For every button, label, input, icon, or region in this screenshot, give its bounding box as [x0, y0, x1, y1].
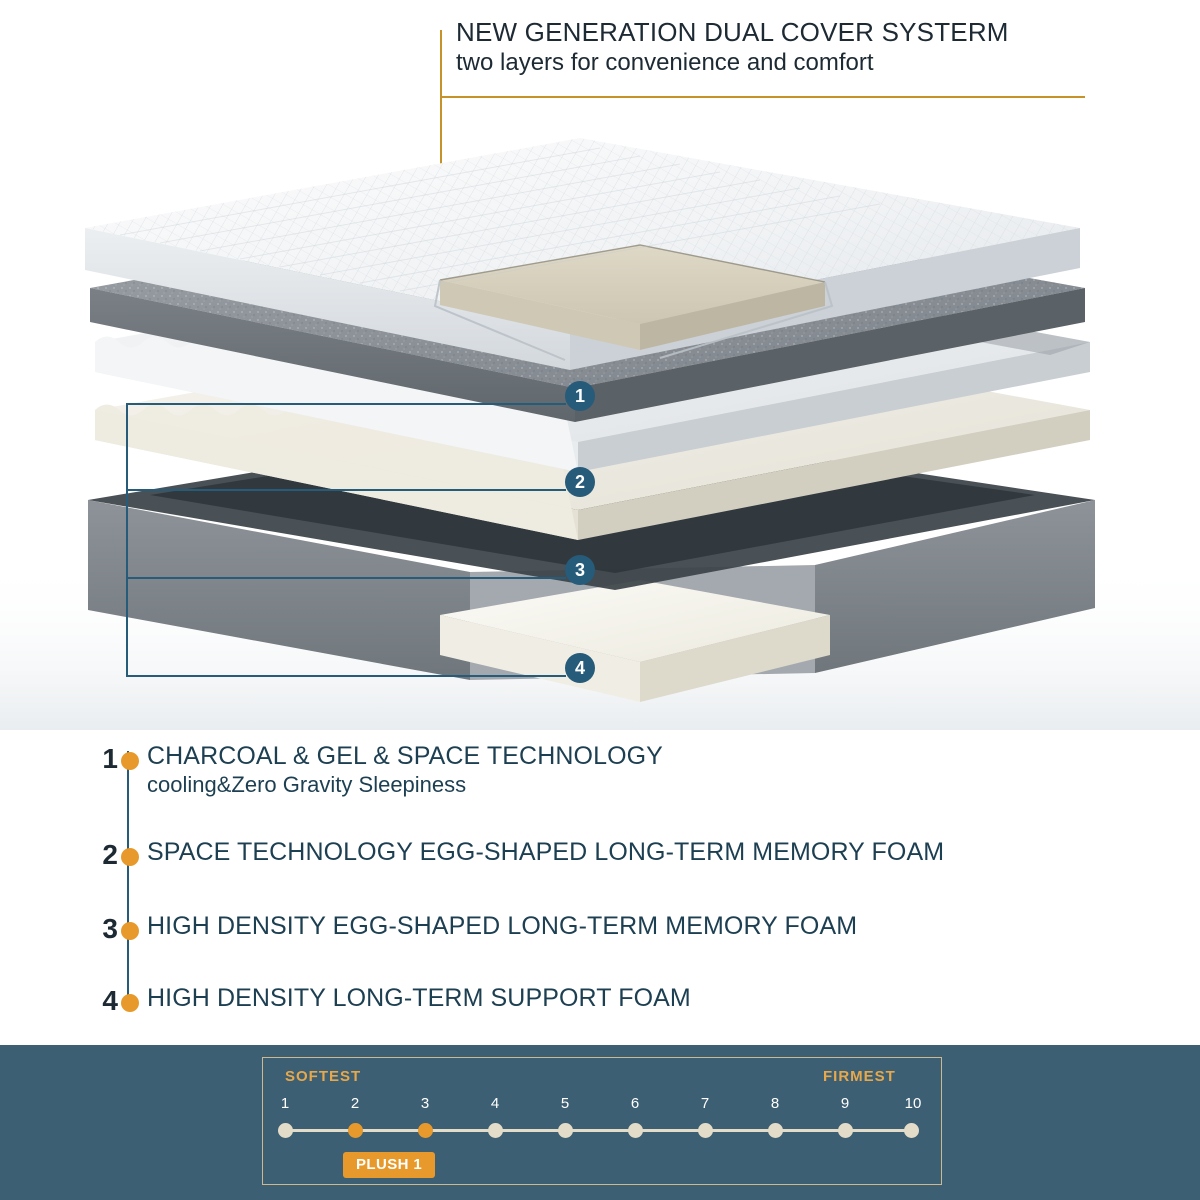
firmness-firmest-label: FIRMEST — [823, 1068, 896, 1085]
top-callout: NEW GENERATION DUAL COVER SYSTERM two la… — [456, 18, 1096, 78]
firmness-tick-10: 10 — [901, 1095, 925, 1112]
marker-spine-line — [126, 403, 128, 675]
marker-2-badge: 2 — [565, 467, 595, 497]
marker-4-badge: 4 — [565, 653, 595, 683]
firmness-softest-label: SOFTEST — [285, 1068, 361, 1085]
firmness-dot-3[interactable] — [418, 1123, 433, 1138]
callout-horizontal-rule — [440, 96, 1085, 98]
mattress-exploded-illustration — [0, 110, 1200, 730]
firmness-dot-7[interactable] — [698, 1123, 713, 1138]
legend-dot-2-icon — [121, 848, 139, 866]
legend-item-3: 3 HIGH DENSITY EGG-SHAPED LONG-TERM MEMO… — [92, 913, 857, 945]
marker-4-line — [126, 675, 566, 677]
legend-item-2: 2 SPACE TECHNOLOGY EGG-SHAPED LONG-TERM … — [92, 839, 944, 871]
legend-item-4: 4 HIGH DENSITY LONG-TERM SUPPORT FOAM — [92, 985, 691, 1017]
marker-2-line — [126, 489, 566, 491]
firmness-tick-4: 4 — [483, 1095, 507, 1112]
legend-subtitle-1: cooling&Zero Gravity Sleepiness — [147, 772, 663, 798]
firmness-selected-badge: PLUSH 1 — [343, 1152, 435, 1178]
infographic-root: NEW GENERATION DUAL COVER SYSTERM two la… — [0, 0, 1200, 1200]
firmness-dot-1[interactable] — [278, 1123, 293, 1138]
layer-legend: 1 CHARCOAL & GEL & SPACE TECHNOLOGY cool… — [0, 735, 1200, 1035]
legend-dot-3-icon — [121, 922, 139, 940]
legend-number-1: 1 — [92, 743, 118, 775]
firmness-tick-3: 3 — [413, 1095, 437, 1112]
firmness-tick-5: 5 — [553, 1095, 577, 1112]
firmness-scale-track — [285, 1129, 917, 1132]
firmness-dot-9[interactable] — [838, 1123, 853, 1138]
marker-1-badge: 1 — [565, 381, 595, 411]
firmness-dot-8[interactable] — [768, 1123, 783, 1138]
firmness-tick-9: 9 — [833, 1095, 857, 1112]
legend-number-4: 4 — [92, 985, 118, 1017]
legend-item-1: 1 CHARCOAL & GEL & SPACE TECHNOLOGY cool… — [92, 743, 663, 798]
firmness-dot-6[interactable] — [628, 1123, 643, 1138]
firmness-dot-2[interactable] — [348, 1123, 363, 1138]
legend-dot-4-icon — [121, 994, 139, 1012]
firmness-tick-7: 7 — [693, 1095, 717, 1112]
marker-3-badge: 3 — [565, 555, 595, 585]
legend-title-4: HIGH DENSITY LONG-TERM SUPPORT FOAM — [147, 985, 691, 1013]
legend-title-3: HIGH DENSITY EGG-SHAPED LONG-TERM MEMORY… — [147, 913, 857, 941]
legend-number-3: 3 — [92, 913, 118, 945]
firmness-dot-5[interactable] — [558, 1123, 573, 1138]
legend-title-2: SPACE TECHNOLOGY EGG-SHAPED LONG-TERM ME… — [147, 839, 944, 867]
firmness-dot-10[interactable] — [904, 1123, 919, 1138]
legend-title-1: CHARCOAL & GEL & SPACE TECHNOLOGY — [147, 743, 663, 771]
firmness-tick-1: 1 — [273, 1095, 297, 1112]
firmness-tick-6: 6 — [623, 1095, 647, 1112]
marker-1-line — [126, 403, 566, 405]
callout-vertical-rule — [440, 30, 442, 98]
callout-subtitle: two layers for convenience and comfort — [456, 49, 1096, 78]
firmness-tick-2: 2 — [343, 1095, 367, 1112]
marker-3-line — [126, 577, 566, 579]
firmness-dot-4[interactable] — [488, 1123, 503, 1138]
firmness-tick-8: 8 — [763, 1095, 787, 1112]
legend-number-2: 2 — [92, 839, 118, 871]
legend-dot-1-icon — [121, 752, 139, 770]
firmness-tick-labels: 1 2 3 4 5 6 7 8 9 10 — [262, 1095, 942, 1121]
callout-title: NEW GENERATION DUAL COVER SYSTERM — [456, 18, 1096, 47]
